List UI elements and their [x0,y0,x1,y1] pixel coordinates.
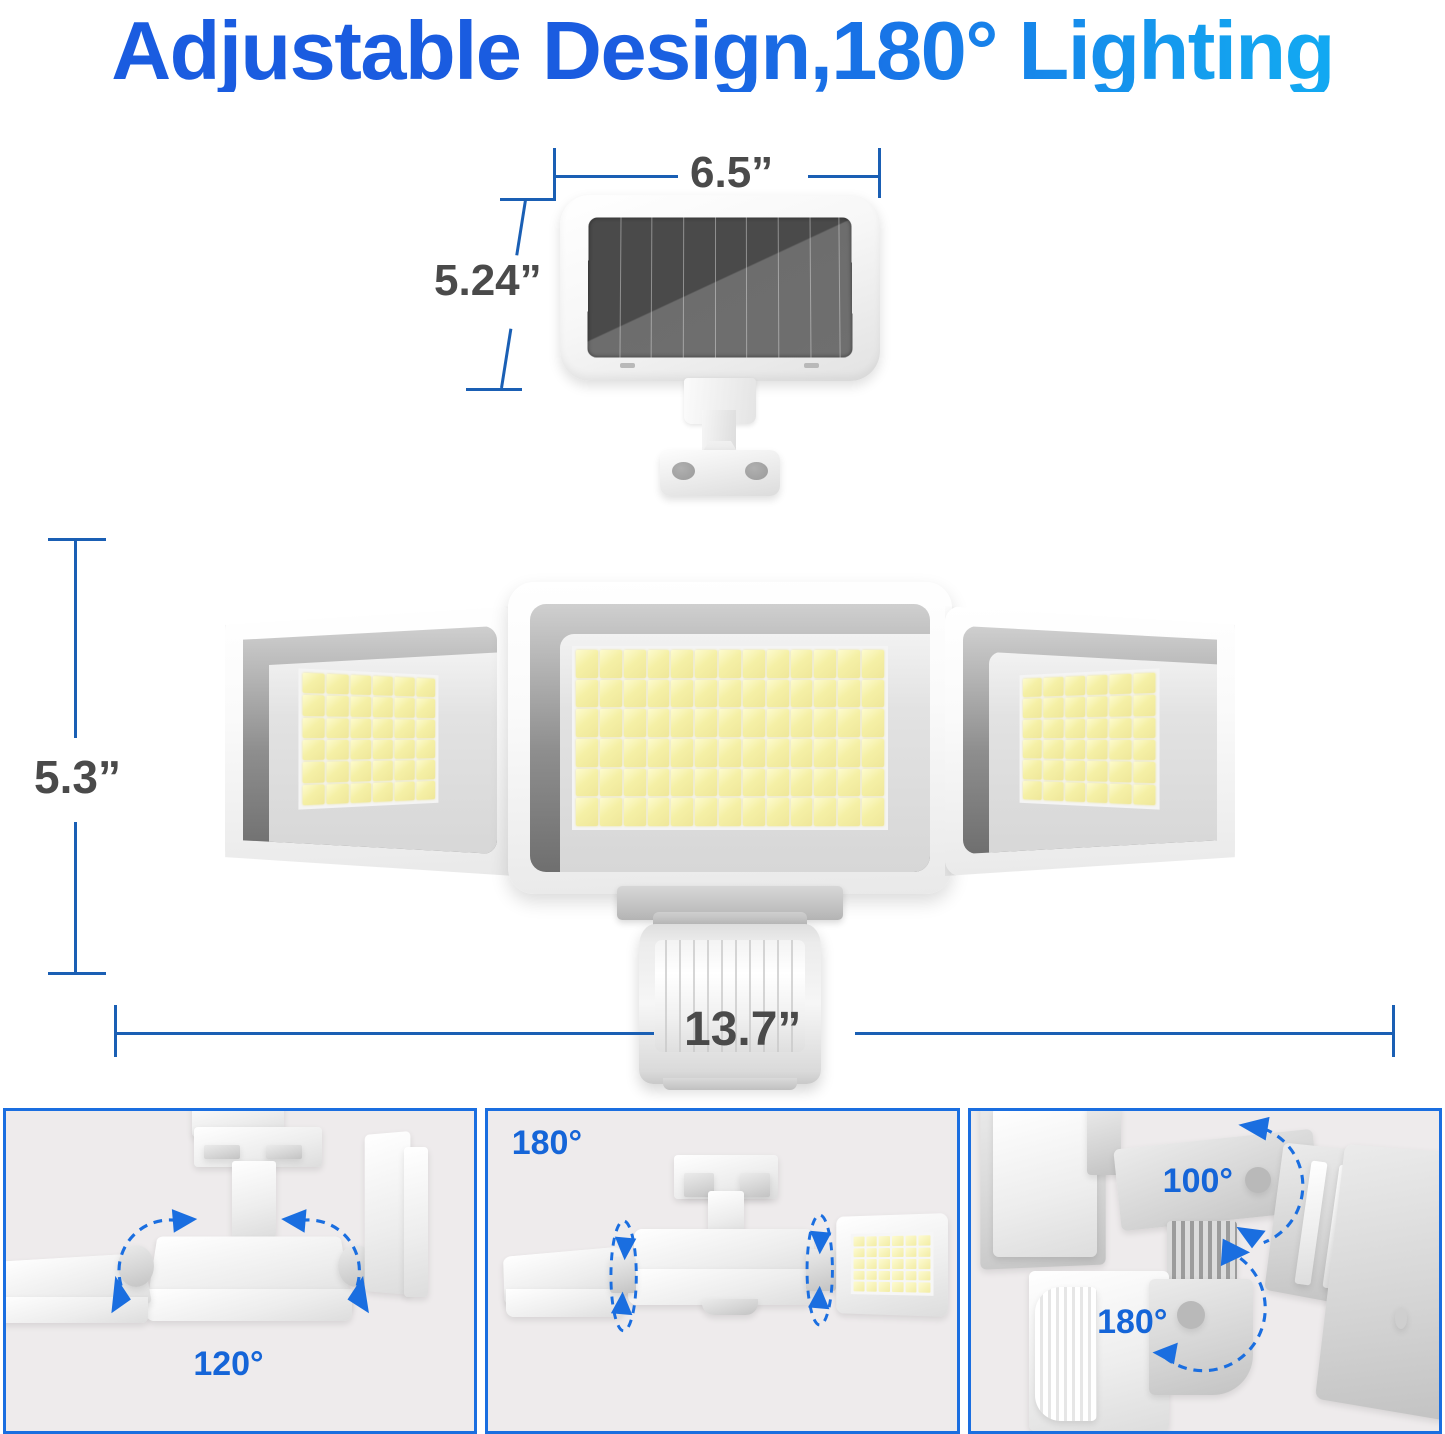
solar-width-line-left [553,175,678,178]
fixture-width-line-left [114,1032,654,1035]
solar-panel-assembly [560,195,880,395]
product-hero-diagram: 6.5” 5.24” 5.3” [0,100,1445,1090]
right-head-led-array [1020,668,1160,809]
fixture-height-label: 5.3” [34,750,121,804]
solar-cell-surface [587,217,852,357]
left-head-led-array [298,668,438,809]
solar-vent-left [620,363,635,368]
fixture-height-tick-bottom [48,972,106,975]
fixture-height-line-upper [74,538,77,738]
angle-label-100: 100° [1163,1162,1233,1201]
solar-height-line-lower [500,329,512,389]
panel-head-tilt: 120° [3,1108,477,1434]
fixture-width-label: 13.7” [684,1002,801,1057]
solar-vent-right [804,363,819,368]
solar-width-label: 6.5” [690,148,773,198]
fixture-height-line-lower [74,822,77,974]
feature-panel-row: 120° [0,1108,1445,1434]
center-head [508,582,952,894]
fixture-width-line-right [855,1032,1395,1035]
led-flood-light-fixture [225,510,1235,990]
sensor-foot [663,1078,797,1090]
solar-wall-mount-base [660,450,780,496]
sensor-arrow-overlay [971,1111,1439,1431]
angle-label-180-rotate: 180° [512,1124,582,1163]
solar-width-line-right [808,175,880,178]
page-title: Adjustable Design,180° Lighting [111,9,1334,92]
headline-banner: Adjustable Design,180° Lighting [0,0,1445,100]
solar-panel-housing [560,195,880,381]
solar-width-tick-left [553,148,556,198]
solar-height-tick-top [500,198,556,201]
left-head [225,606,515,876]
solar-height-line-upper [515,200,527,256]
angle-label-180-sensor: 180° [1097,1303,1167,1342]
panel-head-rotate: 180° [485,1108,959,1434]
fixture-width-tick-right [1392,1005,1395,1057]
fixture-width-tick-left [114,1005,117,1057]
sensor-adjust-illustration [971,1111,1439,1431]
solar-height-tick-bottom [466,388,522,391]
fixture-height-tick-top [48,538,106,541]
angle-label-120: 120° [193,1345,263,1384]
solar-height-label: 5.24” [434,256,542,306]
solar-width-tick-right [878,148,881,198]
right-head [945,606,1235,876]
center-head-led-array [572,646,888,830]
panel-sensor-adjust: 100° 180° [968,1108,1442,1434]
